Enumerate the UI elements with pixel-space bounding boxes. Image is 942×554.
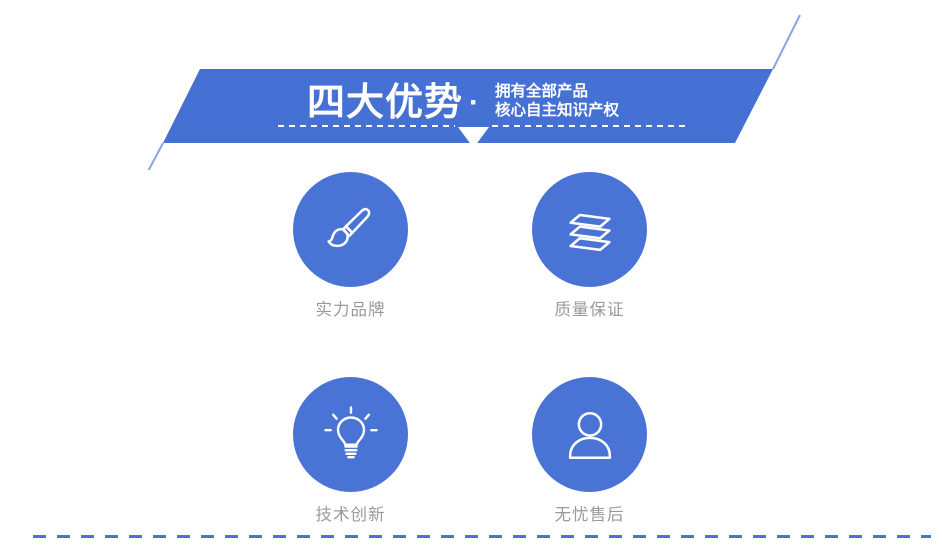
feature-row-bottom: 技术创新 无忧售后 <box>231 377 709 527</box>
feature-item-innovation[interactable]: 技术创新 <box>231 377 470 527</box>
diagonal-accent-line-left <box>135 143 163 170</box>
feature-icon-circle <box>293 377 408 492</box>
user-person-icon <box>559 404 621 466</box>
feature-label: 技术创新 <box>316 507 386 527</box>
dashed-rule-icon <box>33 535 931 538</box>
feature-row-spacer <box>231 322 709 377</box>
feature-icon-circle <box>532 172 647 287</box>
diagonal-accent-line-right <box>773 15 800 69</box>
feature-item-quality[interactable]: 质量保证 <box>470 172 709 322</box>
banner-shape <box>0 0 942 170</box>
feature-label: 无忧售后 <box>555 507 625 527</box>
feature-row-top: 实力品牌 质量保证 <box>231 172 709 322</box>
feature-label: 实力品牌 <box>316 302 386 322</box>
paintbrush-icon <box>320 199 382 261</box>
promo-banner-page: 四大优势 · 拥有全部产品 核心自主知识产权 <box>0 0 942 554</box>
feature-grid: 实力品牌 质量保证 <box>231 172 709 527</box>
feature-label: 质量保证 <box>555 302 625 322</box>
feature-icon-circle <box>532 377 647 492</box>
banner-header: 四大优势 · 拥有全部产品 核心自主知识产权 <box>0 0 942 170</box>
lightbulb-icon <box>319 403 383 467</box>
feature-item-brand[interactable]: 实力品牌 <box>231 172 470 322</box>
layers-stack-icon <box>559 199 621 261</box>
feature-item-service[interactable]: 无忧售后 <box>470 377 709 527</box>
feature-icon-circle <box>293 172 408 287</box>
